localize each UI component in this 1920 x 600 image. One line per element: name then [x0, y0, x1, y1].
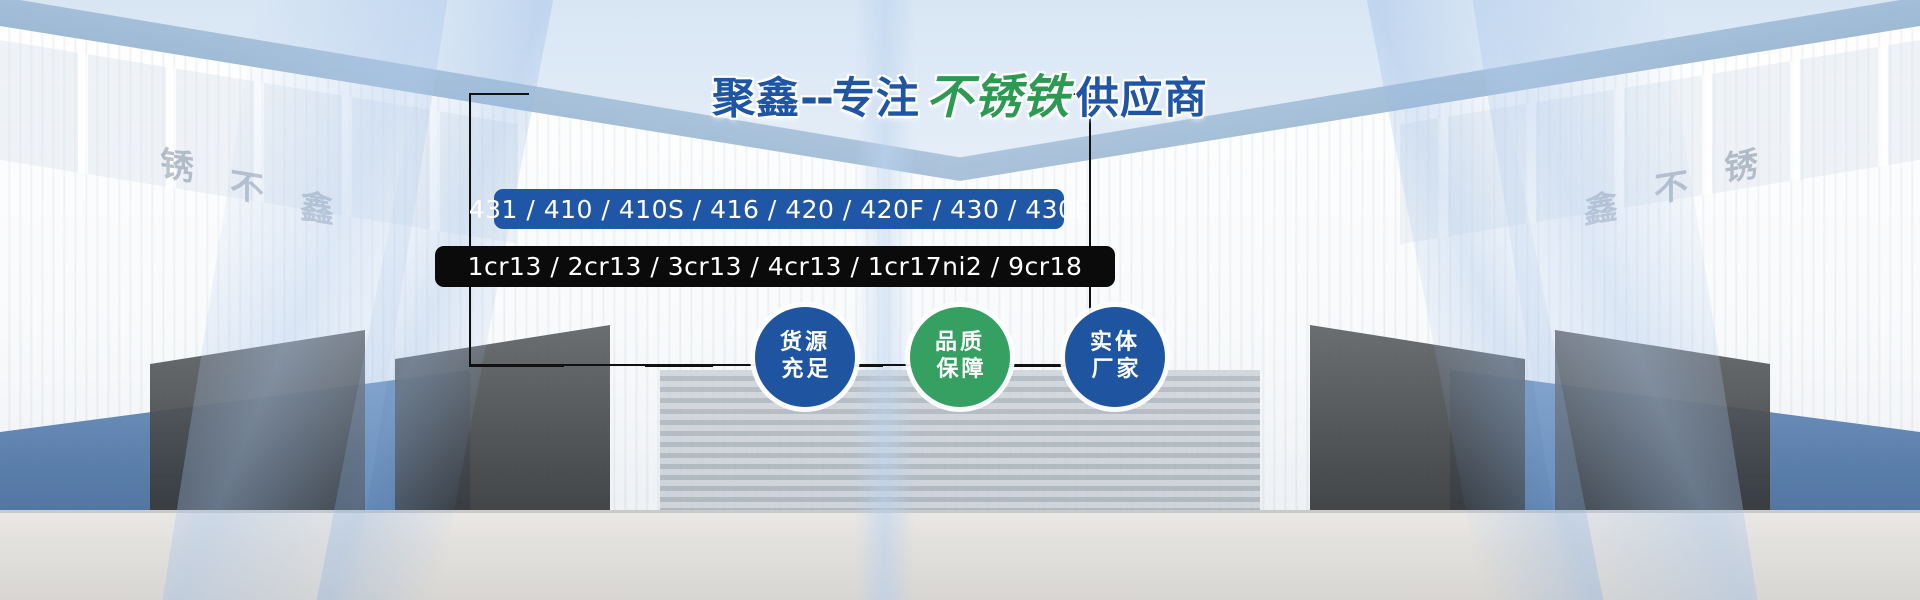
- badge-supply-line1: 货源: [780, 330, 830, 357]
- feature-badge-group: 货源 充足 品质 保障 实体 厂家: [0, 307, 1920, 407]
- headline-brand: 聚鑫: [712, 74, 800, 124]
- headline-supplier-word: 供应商: [1076, 74, 1208, 124]
- badge-real-factory: 实体 厂家: [1065, 307, 1165, 407]
- badge-quality-line1: 品质: [935, 330, 985, 357]
- badge-supply-sufficient: 货源 充足: [755, 307, 855, 407]
- badge-factory-line2: 厂家: [1091, 357, 1141, 384]
- headline-dash: --: [800, 74, 832, 124]
- badge-quality-line2: 保障: [936, 357, 986, 384]
- headline-focus-word: 专注: [832, 74, 920, 124]
- banner-headline: 聚鑫--专注不锈铁供应商: [0, 74, 1920, 121]
- badge-factory-line1: 实体: [1090, 330, 1140, 357]
- headline-highlight: 不锈铁: [920, 70, 1076, 125]
- hero-banner: 锈 不 鑫 鑫 不 锈 聚鑫--专注不锈铁供应商 431 / 410 / 410…: [0, 0, 1920, 600]
- badge-supply-line2: 充足: [781, 357, 831, 384]
- banner-content: 聚鑫--专注不锈铁供应商 431 / 410 / 410S / 416 / 42…: [0, 0, 1920, 600]
- grade-list-blue: 431 / 410 / 410S / 416 / 420 / 420F / 43…: [494, 189, 1064, 229]
- badge-quality-guarantee: 品质 保障: [910, 307, 1010, 407]
- grade-list-dark: 1cr13 / 2cr13 / 3cr13 / 4cr13 / 1cr17ni2…: [435, 246, 1115, 287]
